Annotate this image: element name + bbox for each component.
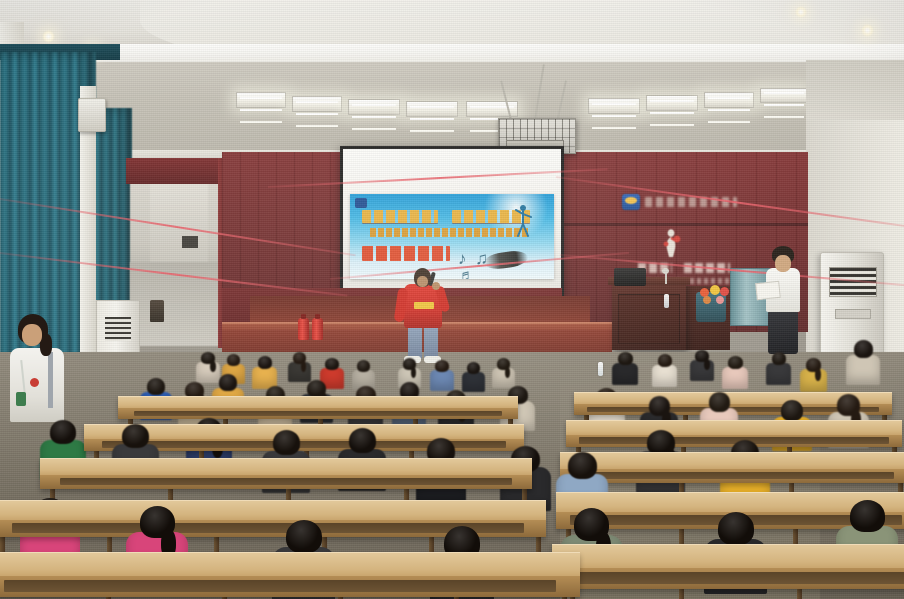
- audience-head: [50, 420, 76, 444]
- audience-member: [722, 356, 748, 391]
- audience-head: [850, 500, 885, 532]
- audience-torso: [430, 370, 454, 391]
- audience-ponytail: [301, 361, 306, 372]
- audience-head: [728, 356, 743, 369]
- audience-head: [772, 352, 786, 365]
- desk-book-shelf: [134, 411, 502, 417]
- staff-jacket-stripe: [48, 352, 53, 408]
- desk-row: [40, 458, 532, 489]
- audience-head: [219, 374, 237, 391]
- water-bottle: [598, 362, 603, 376]
- audience-torso: [492, 368, 515, 388]
- audience-ponytail: [815, 368, 821, 381]
- desk-row: [560, 452, 904, 483]
- audience-ponytail: [210, 361, 216, 372]
- audience-head: [435, 360, 449, 372]
- desk-book-shelf: [574, 472, 894, 480]
- audience-head: [325, 358, 339, 370]
- audience-torso: [766, 363, 791, 385]
- audience-torso: [690, 360, 714, 381]
- audience-ponytail: [505, 367, 510, 378]
- desk-book-shelf: [60, 478, 513, 486]
- audience-member: [800, 358, 827, 395]
- audience-head: [467, 362, 480, 374]
- audience-head: [258, 356, 272, 369]
- audience-member: [652, 354, 677, 389]
- audience-torso: [800, 369, 827, 392]
- desk-book-shelf: [567, 572, 904, 583]
- audience-head: [658, 354, 672, 367]
- audience-ponytail: [704, 359, 710, 370]
- audience-head: [854, 340, 873, 358]
- audience-head: [227, 354, 240, 366]
- audience-head: [273, 430, 300, 455]
- lecture-hall-photo: ♪ ♫ ♬: [0, 0, 904, 599]
- audience-member: [846, 340, 880, 388]
- audience-head: [357, 360, 370, 372]
- staff-id-badge: [16, 392, 26, 406]
- audience-torso: [846, 355, 880, 385]
- audience-torso: [722, 367, 748, 389]
- audience-head: [709, 392, 730, 412]
- audience-member: [430, 360, 454, 393]
- audience-member: [612, 352, 638, 387]
- audience-head: [147, 378, 165, 395]
- audience-torso: [652, 365, 677, 387]
- audience-member: [690, 350, 714, 383]
- water-bottle: [664, 294, 669, 308]
- audience-head: [286, 520, 322, 553]
- audience-head: [568, 452, 597, 479]
- desk-row: [552, 544, 904, 589]
- desk-row: [118, 396, 518, 419]
- audience-torso: [462, 372, 485, 392]
- desk-book-shelf: [4, 580, 556, 591]
- staff-jacket-emblem: [30, 378, 39, 387]
- audience-member: [766, 352, 791, 387]
- audience-torso: [288, 362, 311, 382]
- audience-head: [618, 352, 633, 365]
- audience-head: [349, 428, 376, 453]
- desk-row: [0, 552, 580, 597]
- audience-head: [718, 512, 754, 545]
- staff-face: [22, 324, 42, 346]
- audience-head: [781, 400, 803, 421]
- audience-torso: [612, 363, 638, 385]
- audience-head: [122, 424, 149, 448]
- audience-ponytail: [411, 367, 416, 378]
